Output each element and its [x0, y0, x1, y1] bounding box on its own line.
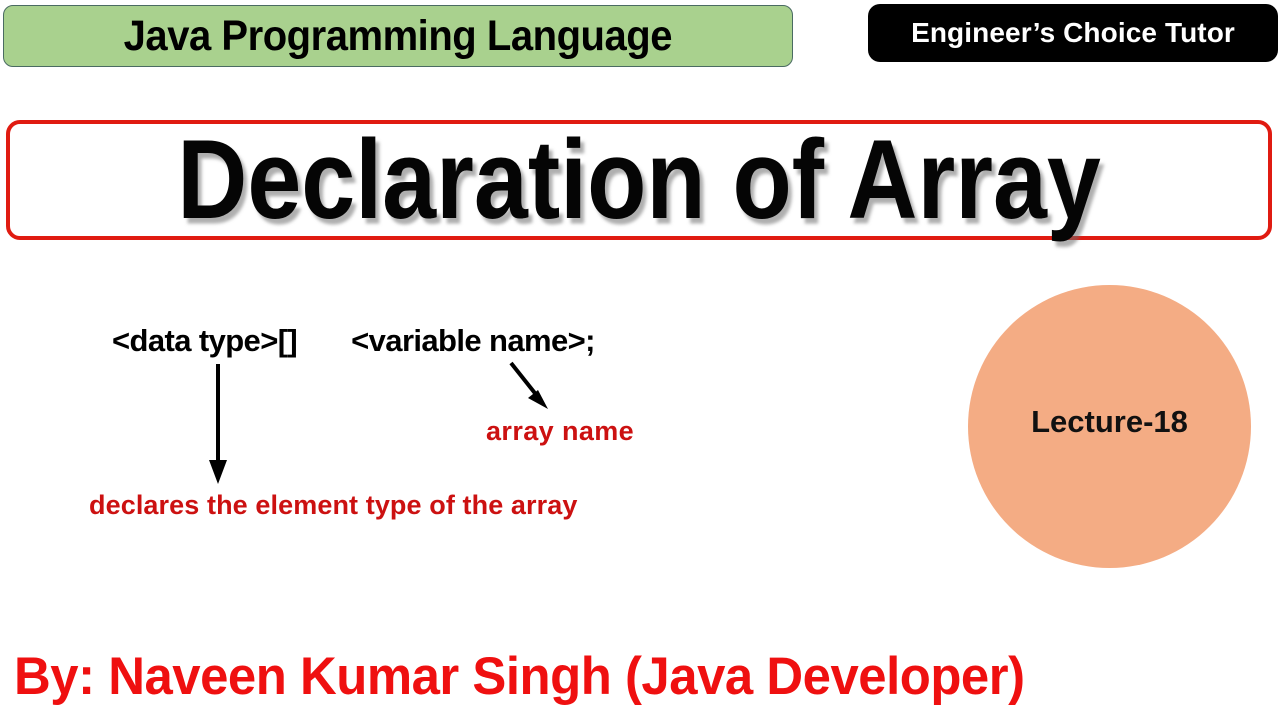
lecture-number-label: Lecture-18	[1031, 406, 1188, 437]
course-banner-label: Java Programming Language	[124, 15, 672, 58]
annotation-array-name: array name	[486, 418, 634, 445]
slide-title-box: Declaration of Array	[6, 120, 1272, 240]
channel-badge: Engineer’s Choice Tutor	[868, 4, 1278, 62]
lecture-number-badge: Lecture-18	[968, 285, 1251, 568]
arrow-down-right-icon	[511, 363, 548, 409]
page-title: Declaration of Array	[177, 124, 1101, 236]
author-byline: By: Naveen Kumar Singh (Java Developer)	[14, 650, 1025, 703]
course-banner: Java Programming Language	[3, 5, 793, 67]
syntax-data-type: <data type>[]	[112, 323, 297, 358]
channel-badge-label: Engineer’s Choice Tutor	[911, 19, 1235, 47]
arrow-down-icon	[209, 364, 227, 484]
array-declaration-syntax: <data type>[]<variable name>;	[112, 325, 595, 356]
syntax-variable-name: <variable name>;	[351, 323, 595, 358]
annotation-element-type: declares the element type of the array	[89, 492, 578, 519]
